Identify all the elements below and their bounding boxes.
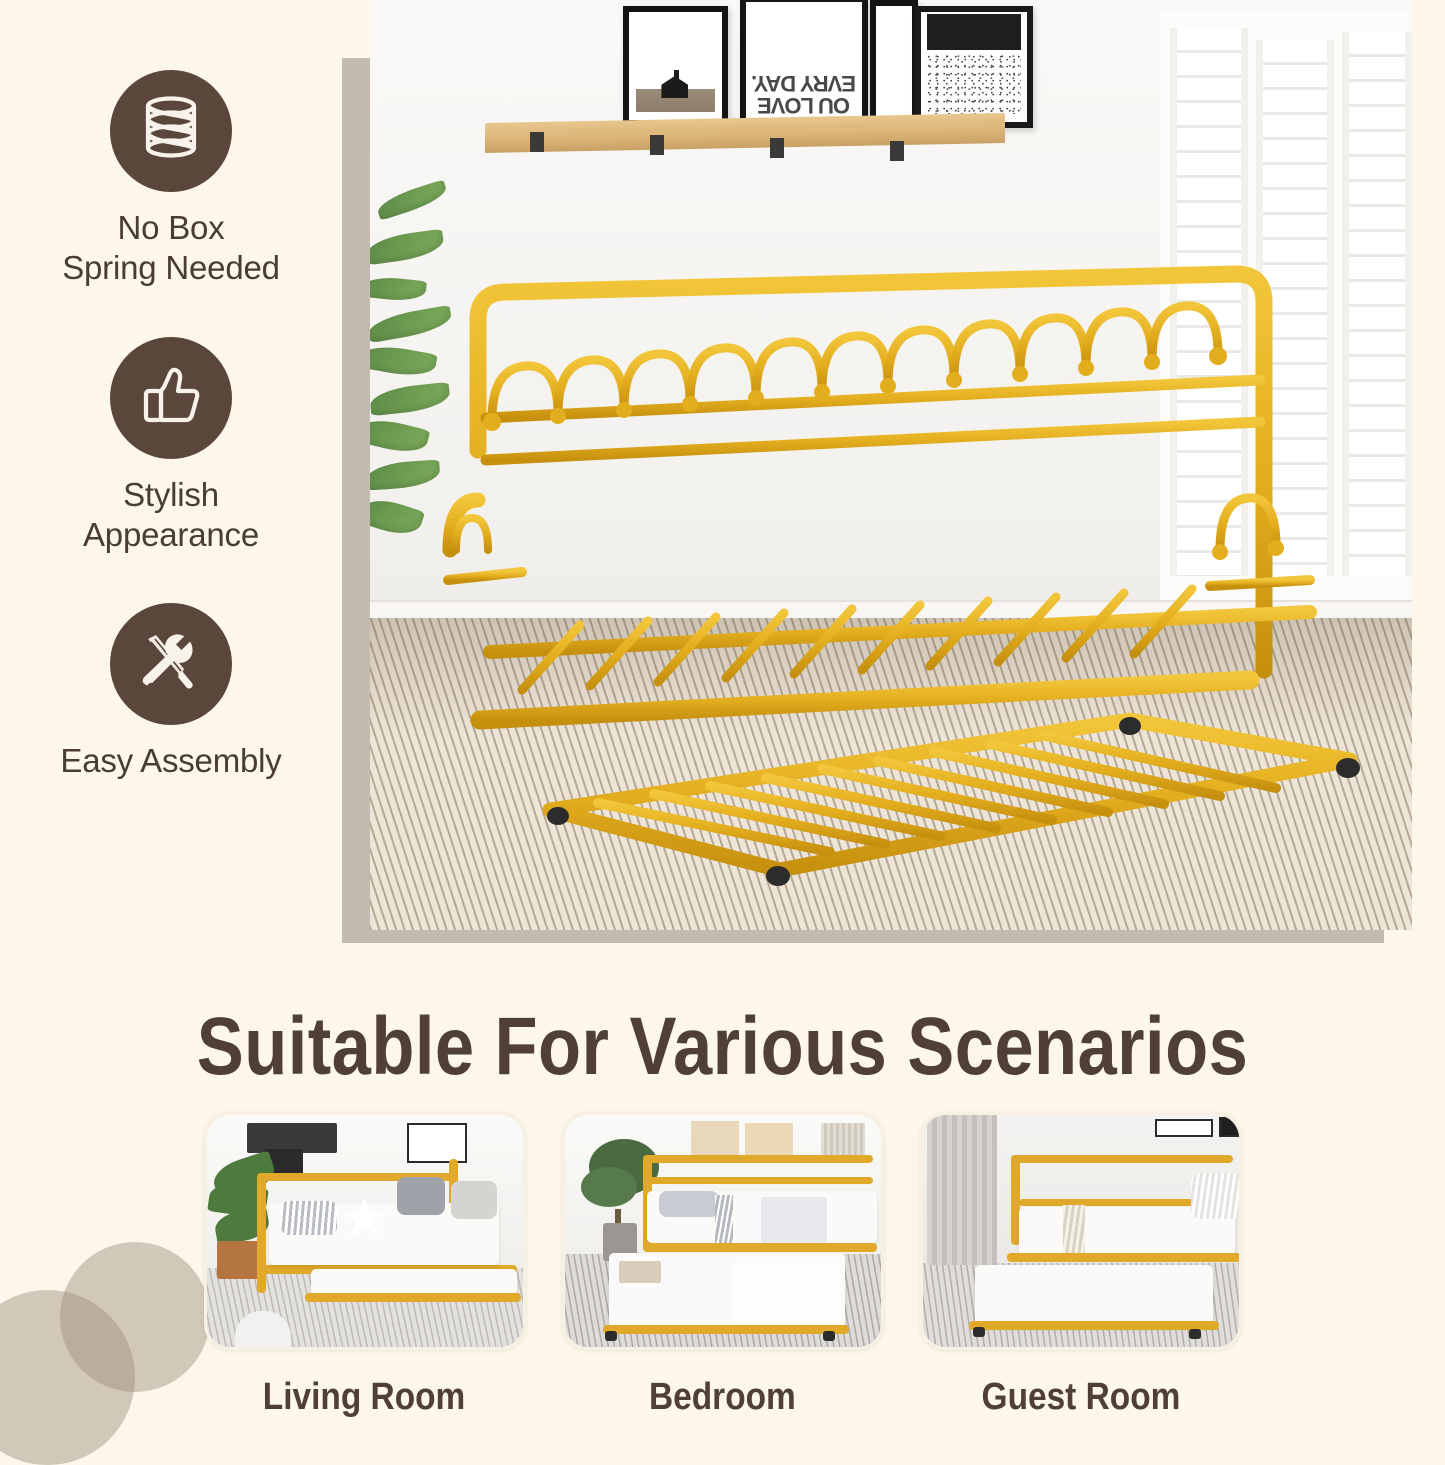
ledge-bracket <box>530 132 544 152</box>
feature-no-box-spring: No Box Spring Needed <box>21 70 321 289</box>
feature-label: Easy Assembly <box>60 741 281 781</box>
scenario-label: Living Room <box>263 1376 465 1419</box>
poster-love-every-day: OU LOVE EVRY DAY. <box>740 0 868 132</box>
poster-speckled-print <box>915 6 1033 128</box>
feature-label: No Box Spring Needed <box>62 208 280 289</box>
scenario-guest-room[interactable]: Guest Room <box>920 1112 1242 1422</box>
poster-thin-frame <box>870 0 918 128</box>
hero-product-photo: OU LOVE EVRY DAY. <box>370 0 1412 930</box>
scenario-thumbnail[interactable] <box>562 1112 884 1350</box>
scenario-gallery: Living Room Bedroo <box>0 1112 1445 1422</box>
ledge-bracket <box>890 141 904 161</box>
screwdriver-wrench-icon <box>110 603 232 725</box>
daybed-with-trundle <box>430 250 1390 900</box>
scenario-label: Guest Room <box>981 1376 1180 1419</box>
scenario-thumbnail[interactable] <box>920 1112 1242 1350</box>
feature-label: Stylish Appearance <box>83 475 259 556</box>
page-title: Suitable For Various Scenarios <box>101 1000 1344 1094</box>
scenario-label: Bedroom <box>649 1376 796 1419</box>
poster-text: OU LOVE EVRY DAY. <box>752 12 856 116</box>
scenario-bedroom[interactable]: Bedroom <box>562 1112 884 1422</box>
ledge-bracket <box>650 135 664 155</box>
mattress-spring-icon <box>110 70 232 192</box>
feature-stylish-appearance: Stylish Appearance <box>21 337 321 556</box>
feature-easy-assembly: Easy Assembly <box>21 603 321 781</box>
scenario-thumbnail[interactable] <box>204 1112 526 1350</box>
ledge-bracket <box>770 138 784 158</box>
feature-list: No Box Spring Needed Stylish Appearance <box>0 70 342 781</box>
hero-image-block: OU LOVE EVRY DAY. <box>342 0 1412 960</box>
thumbs-up-icon <box>110 337 232 459</box>
scenario-living-room[interactable]: Living Room <box>204 1112 526 1422</box>
poster-church-print <box>623 6 728 126</box>
